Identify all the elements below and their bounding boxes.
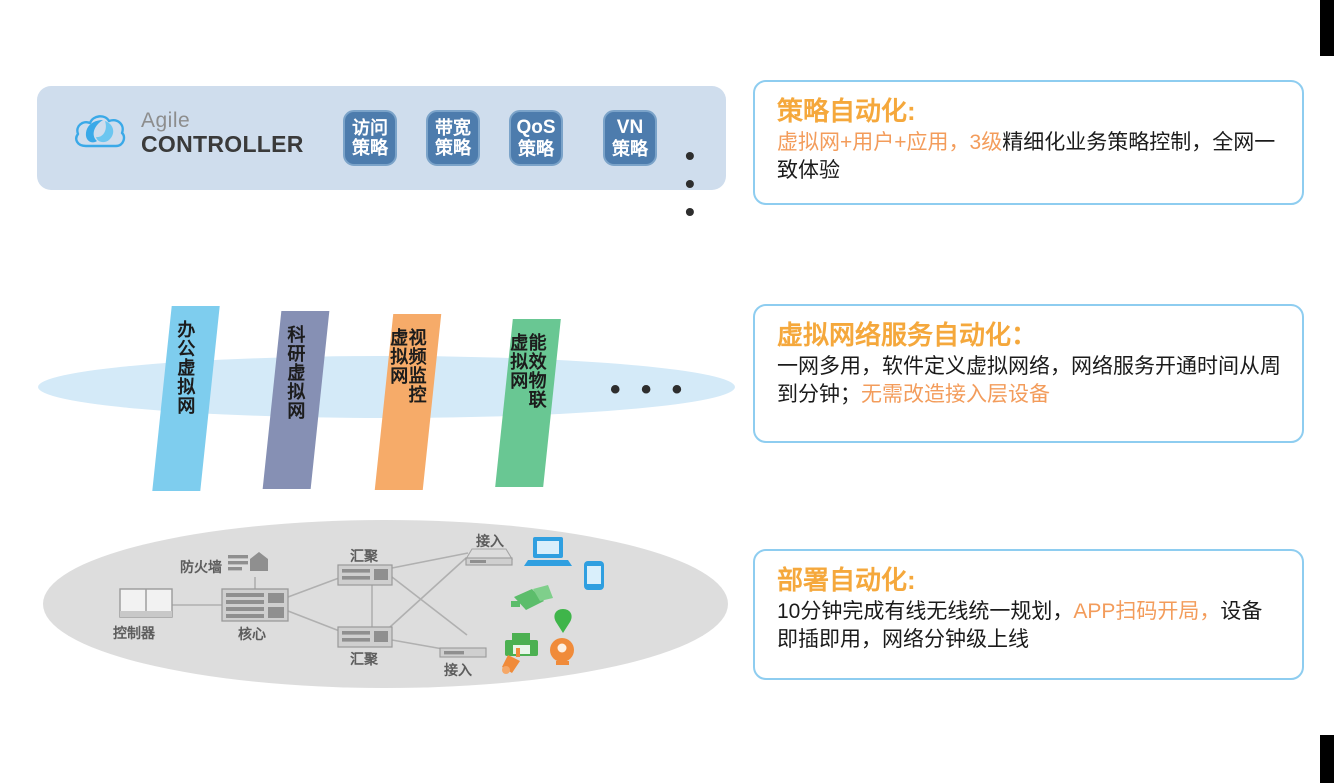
dome-camera-icon — [550, 638, 574, 665]
virtual-network-more-ellipsis: • • • — [610, 375, 688, 405]
sensor-icon — [511, 585, 553, 610]
policy-automation-card: 策略自动化: 虚拟网+用户+应用，3级精细化业务策略控制，全网一致体验 — [753, 80, 1304, 205]
smart-lamp-icon — [554, 609, 571, 633]
badge-bandwidth-policy-line2: 策略 — [435, 138, 471, 158]
deployment-body-part-1: 10分钟完成有线无线统一规划， — [777, 600, 1073, 623]
badge-vn-policy[interactable]: VN 策略 — [603, 110, 657, 166]
deployment-automation-body: 10分钟完成有线无线统一规划，APP扫码开局，设备即插即用，网络分钟级上线 — [777, 598, 1282, 655]
badge-qos-policy-line1: QoS — [516, 117, 555, 138]
topology-label-firewall: 防火墙 — [180, 557, 222, 577]
slice-energy-iot-vn-sublabel: 虚拟网 — [509, 333, 527, 390]
core-switch-icon — [222, 589, 288, 621]
badge-qos-policy[interactable]: QoS 策略 — [509, 110, 563, 166]
topology-label-aggregation-top: 汇聚 — [350, 546, 378, 566]
badge-access-policy-line1: 访问 — [352, 118, 388, 138]
policy-automation-body-part-1: 虚拟网+用户+应用，3级 — [777, 131, 1002, 154]
aggregation-switch-top-icon — [338, 565, 392, 585]
deployment-body-part-2: APP扫码开局， — [1073, 600, 1220, 623]
slice-research-vn-label: 科研虚拟网 — [286, 325, 304, 420]
badge-bandwidth-policy-line1: 带宽 — [435, 118, 471, 138]
topology-label-access-top: 接入 — [476, 531, 504, 551]
logo-agile-text: Agile — [141, 110, 304, 131]
topology-label-access-bottom: 接入 — [444, 660, 472, 680]
slice-research-vn[interactable]: 科研虚拟网 — [263, 311, 330, 489]
policy-automation-title: 策略自动化: — [777, 96, 1282, 127]
badge-access-policy-line2: 策略 — [352, 138, 388, 158]
aggregation-switch-bottom-icon — [338, 627, 392, 647]
badge-vn-policy-line1: VN — [617, 117, 643, 138]
slice-video-surveillance-vn-sublabel: 虚拟网 — [389, 328, 407, 385]
virtual-network-service-automation-body: 一网多用，软件定义虚拟网络，网络服务开通时间从周到分钟；无需改造接入层设备 — [777, 353, 1282, 410]
agile-controller-logo: Agile CONTROLLER — [72, 108, 304, 157]
slice-energy-iot-vn-label: 能效物联 — [527, 333, 545, 409]
page-edge-bar-bottom — [1320, 735, 1334, 783]
printer-icon — [505, 633, 538, 656]
vn-service-body-part-2: 无需改造接入层设备 — [861, 383, 1050, 406]
access-switch-top-icon — [466, 549, 512, 565]
badge-qos-policy-line2: 策略 — [518, 139, 554, 159]
virtual-network-service-automation-card: 虚拟网络服务自动化： 一网多用，软件定义虚拟网络，网络服务开通时间从周到分钟；无… — [753, 304, 1304, 443]
slice-office-vn-label: 办公虚拟网 — [176, 320, 194, 415]
topology-label-controller: 控制器 — [113, 623, 155, 643]
tablet-icon — [584, 561, 604, 590]
laptop-icon — [524, 537, 572, 566]
topology-label-aggregation-bottom: 汇聚 — [350, 649, 378, 669]
virtual-network-service-automation-title: 虚拟网络服务自动化： — [777, 320, 1282, 351]
badge-access-policy[interactable]: 访问 策略 — [343, 110, 397, 166]
policy-automation-body: 虚拟网+用户+应用，3级精细化业务策略控制，全网一致体验 — [777, 129, 1282, 186]
network-topology-diagram: 控制器 防火墙 核心 汇聚 汇聚 接入 接入 — [0, 515, 760, 690]
topology-graphics — [0, 515, 760, 690]
virtual-network-slices-zone: 办公虚拟网 科研虚拟网 视频监控 虚拟网 能效物联 虚拟网 • • • — [0, 290, 750, 505]
access-switch-bottom-icon — [440, 648, 486, 657]
deployment-automation-card: 部署自动化: 10分钟完成有线无线统一规划，APP扫码开局，设备即插即用，网络分… — [753, 549, 1304, 680]
deployment-automation-title: 部署自动化: — [777, 565, 1282, 596]
badge-vn-policy-line2: 策略 — [612, 139, 648, 159]
cloud-swirl-icon — [72, 108, 128, 157]
controller-icon — [120, 589, 172, 617]
page-edge-bar-top — [1320, 0, 1334, 56]
slice-energy-iot-vn[interactable]: 能效物联 虚拟网 — [495, 319, 561, 487]
firewall-icon — [228, 552, 268, 571]
slice-video-surveillance-vn[interactable]: 视频监控 虚拟网 — [375, 314, 441, 490]
slice-video-surveillance-vn-label: 视频监控 — [407, 328, 425, 404]
slice-office-vn[interactable]: 办公虚拟网 — [152, 306, 219, 491]
agile-controller-bar: Agile CONTROLLER 访问 策略 带宽 策略 QoS 策略 VN 策… — [37, 86, 726, 190]
logo-controller-text: CONTROLLER — [141, 133, 304, 156]
badge-bandwidth-policy[interactable]: 带宽 策略 — [426, 110, 480, 166]
topology-label-core: 核心 — [238, 624, 266, 644]
controller-bar-more-ellipsis: • • • — [685, 142, 726, 226]
